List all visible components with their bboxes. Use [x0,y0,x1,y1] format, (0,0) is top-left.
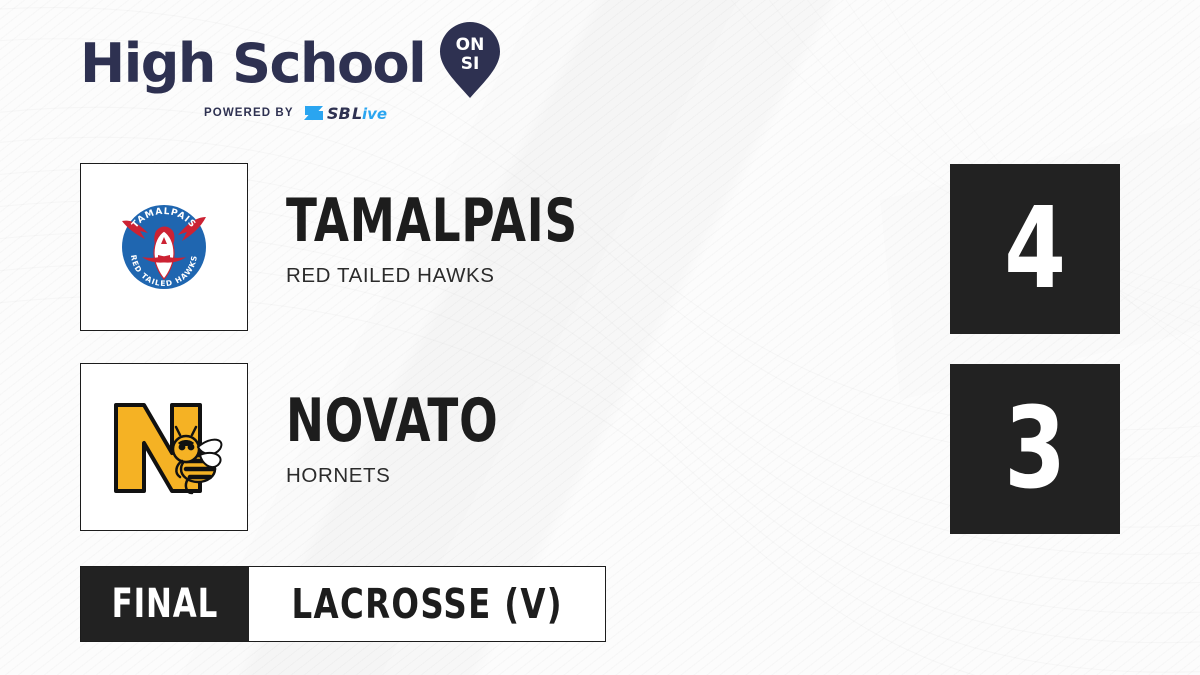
team-info: TAMALPAIS RED TAILED HAWKS [286,193,926,288]
team-logo-tile [80,363,248,531]
sblive-wordmark-l: L [352,104,362,123]
team-name: TAMALPAIS [286,193,824,251]
tamalpais-red-tailed-hawks-logo: TAMALPAIS RED TAILED HAWKS [104,187,224,307]
brand-row: High School ON SI [80,30,600,98]
team-mascot: RED TAILED HAWKS [286,264,926,288]
team-score: 4 [1004,193,1066,305]
brand-title: High School [80,37,425,91]
powered-by-row: POWERED BY SB L ive [204,102,600,124]
team-info: NOVATO HORNETS [286,393,926,488]
sport-label-container: LACROSSE (V) [249,567,605,641]
scoreboard-graphic: High School ON SI POWERED BY SB L ive [0,0,1200,675]
team-logo-tile: TAMALPAIS RED TAILED HAWKS [80,163,248,331]
sblive-wordmark-sb: SB [327,104,351,123]
team-score-box: 3 [950,364,1120,534]
game-status-bar: FINAL LACROSSE (V) [80,566,606,642]
sblive-wordmark-ive: ive [362,105,387,123]
pin-label-on: ON [456,35,485,55]
pin-label-si: SI [461,54,480,74]
status-state-label: FINAL [112,581,219,627]
sport-label: LACROSSE (V) [291,580,562,628]
novato-hornets-logo [102,387,226,507]
powered-by-label: POWERED BY [204,107,294,119]
team-name: NOVATO [286,393,824,451]
team-mascot: HORNETS [286,464,926,488]
status-badge: FINAL [81,567,249,641]
team-score: 3 [1004,393,1066,505]
sblive-logo: SB L ive [303,102,399,124]
team-score-box: 4 [950,164,1120,334]
on-si-pin-icon: ON SI [439,21,501,104]
team-row: NOVATO HORNETS 3 [80,363,1120,535]
team-row: TAMALPAIS RED TAILED HAWKS TAMALPAIS RED… [80,163,1120,335]
brand-header: High School ON SI POWERED BY SB L ive [80,30,600,135]
